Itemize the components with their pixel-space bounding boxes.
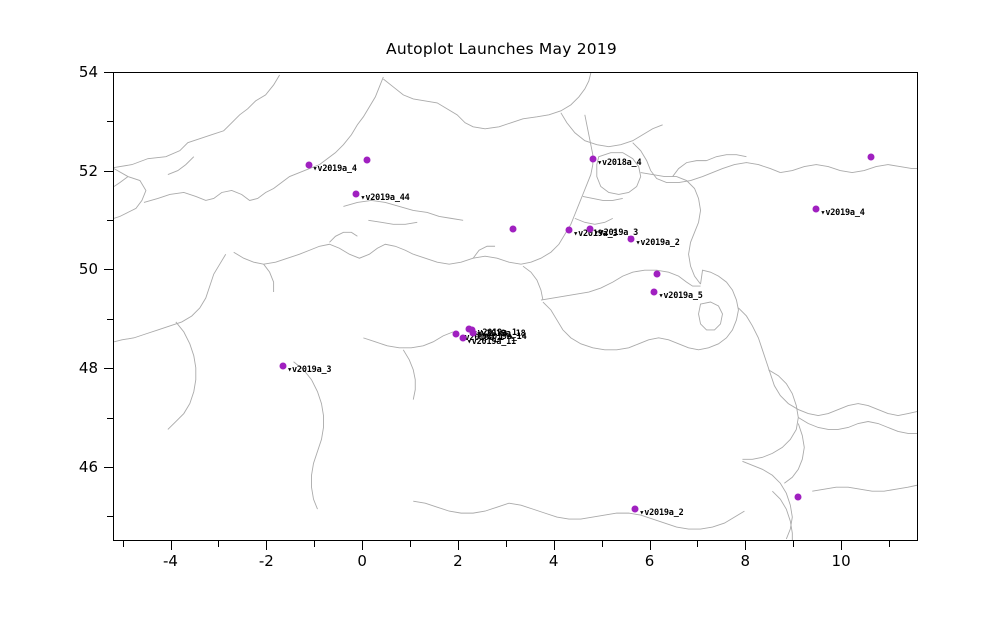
data-point[interactable] [632, 505, 639, 512]
x-tick-2 [458, 541, 459, 550]
data-point[interactable] [305, 161, 312, 168]
data-point[interactable] [566, 226, 573, 233]
y-tick-54 [104, 72, 113, 73]
x-tick-10 [841, 541, 842, 550]
data-point[interactable] [280, 362, 287, 369]
data-point-label: ▾v2019a_2 [639, 508, 683, 518]
x-tick-m2 [266, 541, 267, 550]
y-tick-45-minor [107, 516, 113, 517]
data-point[interactable] [590, 156, 597, 163]
x-label-m2: -2 [259, 552, 274, 570]
x-label-m4: -4 [163, 552, 178, 570]
data-point-label: ▾v2019a_5 [658, 291, 702, 301]
x-label-6: 6 [645, 552, 655, 570]
x-tick-m3-minor [218, 541, 219, 547]
x-tick-m4 [171, 541, 172, 550]
x-tick-6 [650, 541, 651, 550]
data-point[interactable] [510, 225, 517, 232]
x-tick-m1-minor [314, 541, 315, 547]
data-point[interactable] [813, 206, 820, 213]
data-point-label: ▾v2018a_4 [597, 158, 641, 168]
x-tick-11-minor [889, 541, 890, 547]
map-coastlines [114, 73, 917, 540]
data-point[interactable] [586, 225, 593, 232]
x-label-0: 0 [357, 552, 367, 570]
page-title: Autoplot Launches May 2019 [0, 40, 1003, 58]
data-point-label: ▾v2019a_11 [467, 337, 516, 347]
x-tick-1-minor [410, 541, 411, 547]
x-tick-7-minor [697, 541, 698, 547]
data-point[interactable] [653, 271, 660, 278]
y-tick-47-minor [107, 418, 113, 419]
figure-canvas: Autoplot Launches May 2019 [0, 0, 1003, 633]
data-point[interactable] [651, 288, 658, 295]
x-label-10: 10 [832, 552, 851, 570]
x-tick-5-minor [602, 541, 603, 547]
data-point-label: ▾v2019a_4 [313, 164, 357, 174]
x-label-4: 4 [549, 552, 559, 570]
data-point[interactable] [459, 334, 466, 341]
y-label-46: 46 [68, 458, 98, 476]
data-point[interactable] [628, 235, 635, 242]
y-tick-46 [104, 467, 113, 468]
x-tick-m5-minor [123, 541, 124, 547]
x-tick-4 [554, 541, 555, 550]
data-point-label: ▾v2019a_44 [360, 193, 409, 203]
data-point[interactable] [795, 493, 802, 500]
y-axis-labels: 54 52 50 48 46 [60, 0, 98, 633]
x-tick-8 [745, 541, 746, 550]
data-point-label: ▾v2019a_4 [820, 208, 864, 218]
plot-area [113, 72, 918, 541]
x-tick-0 [362, 541, 363, 550]
data-point[interactable] [353, 191, 360, 198]
x-tick-3-minor [506, 541, 507, 547]
x-tick-9-minor [793, 541, 794, 547]
y-label-54: 54 [68, 63, 98, 81]
y-label-52: 52 [68, 162, 98, 180]
data-point-label: ▾v2019a_2 [635, 238, 679, 248]
y-tick-51-minor [107, 220, 113, 221]
y-tick-52 [104, 171, 113, 172]
data-point[interactable] [363, 156, 370, 163]
x-label-8: 8 [741, 552, 751, 570]
y-tick-48 [104, 368, 113, 369]
data-point-label: ▾v2019a_3 [287, 365, 331, 375]
x-label-2: 2 [453, 552, 463, 570]
y-tick-49-minor [107, 319, 113, 320]
data-point[interactable] [452, 330, 459, 337]
y-label-48: 48 [68, 359, 98, 377]
data-point[interactable] [470, 329, 477, 336]
y-tick-53-minor [107, 121, 113, 122]
y-tick-50 [104, 269, 113, 270]
y-label-50: 50 [68, 260, 98, 278]
data-point[interactable] [868, 153, 875, 160]
